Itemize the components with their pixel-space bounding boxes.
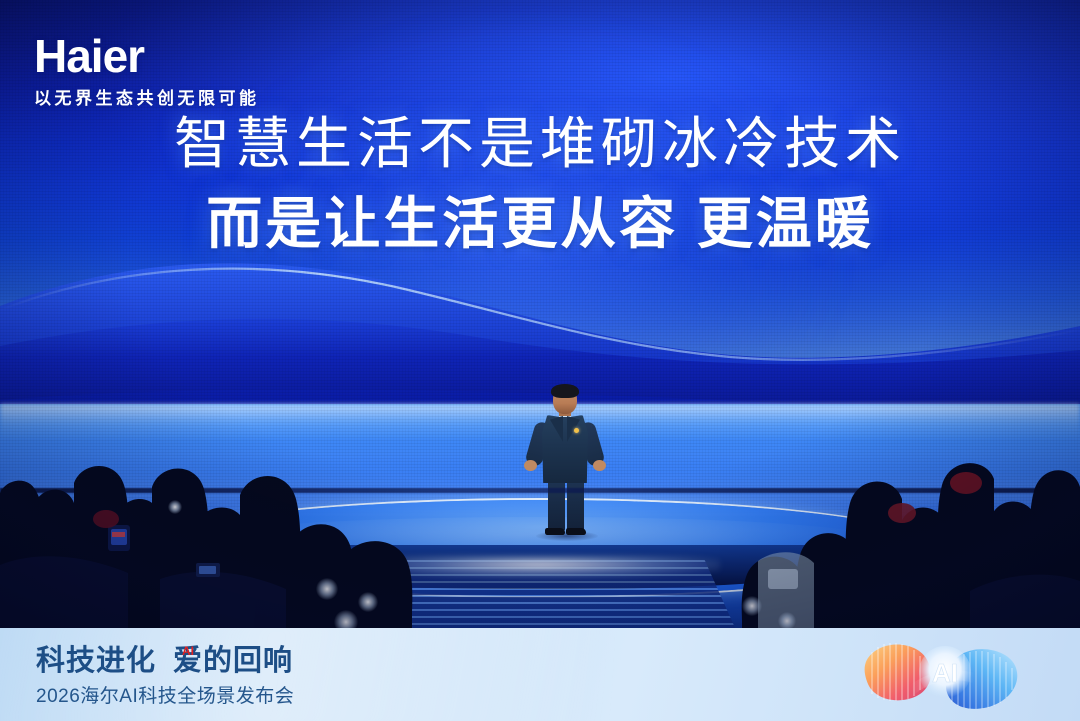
speaker-hand-left (524, 460, 537, 471)
banner-title: 科技进化 爱 AI 的回响 (36, 644, 294, 678)
stage-steps-glow (360, 556, 720, 578)
ai-ribbon-logo: AI (850, 632, 1040, 718)
stage-light-2 (358, 592, 378, 612)
banner-ai-mark: AI (182, 645, 194, 657)
speaker-hair (551, 384, 579, 398)
speaker-leg-right (567, 479, 584, 531)
banner-subtitle: 2026海尔AI科技全场景发布会 (36, 685, 294, 709)
stage-light-1 (316, 578, 338, 600)
banner-title-part2: 的回响 (203, 644, 293, 678)
speaker-leg-left (548, 479, 565, 531)
speaker-shoe-right (566, 528, 586, 535)
presentation-stage-photo: Haier 以无界生态共创无限可能 智慧生活不是堆砌冰冷技术 而是让生活更从容 … (0, 0, 1080, 721)
speaker-suit-jacket (539, 415, 591, 483)
haier-tagline: 以无界生态共创无限可能 (34, 88, 334, 110)
svg-text:AI: AI (932, 658, 958, 688)
banner-text-block: 科技进化 爱 AI 的回响 2026海尔AI科技全场景发布会 (36, 644, 294, 709)
speaker-shoe-left (545, 528, 565, 535)
speaker-lapel-pin (574, 428, 579, 433)
stage-light-4 (742, 596, 762, 616)
banner-ai-heart-glyph: 爱 AI (173, 644, 203, 678)
event-bottom-banner: 科技进化 爱 AI 的回响 2026海尔AI科技全场景发布会 (0, 628, 1080, 721)
speaker-presenter (522, 386, 608, 538)
stage-light-6 (168, 500, 182, 514)
haier-logo-block: Haier 以无界生态共创无限可能 (34, 30, 334, 110)
audience-rail (0, 488, 1080, 493)
speaker-hand-right (593, 460, 606, 471)
banner-title-part1: 科技进化 (36, 644, 156, 678)
haier-wordmark: Haier (34, 30, 334, 82)
